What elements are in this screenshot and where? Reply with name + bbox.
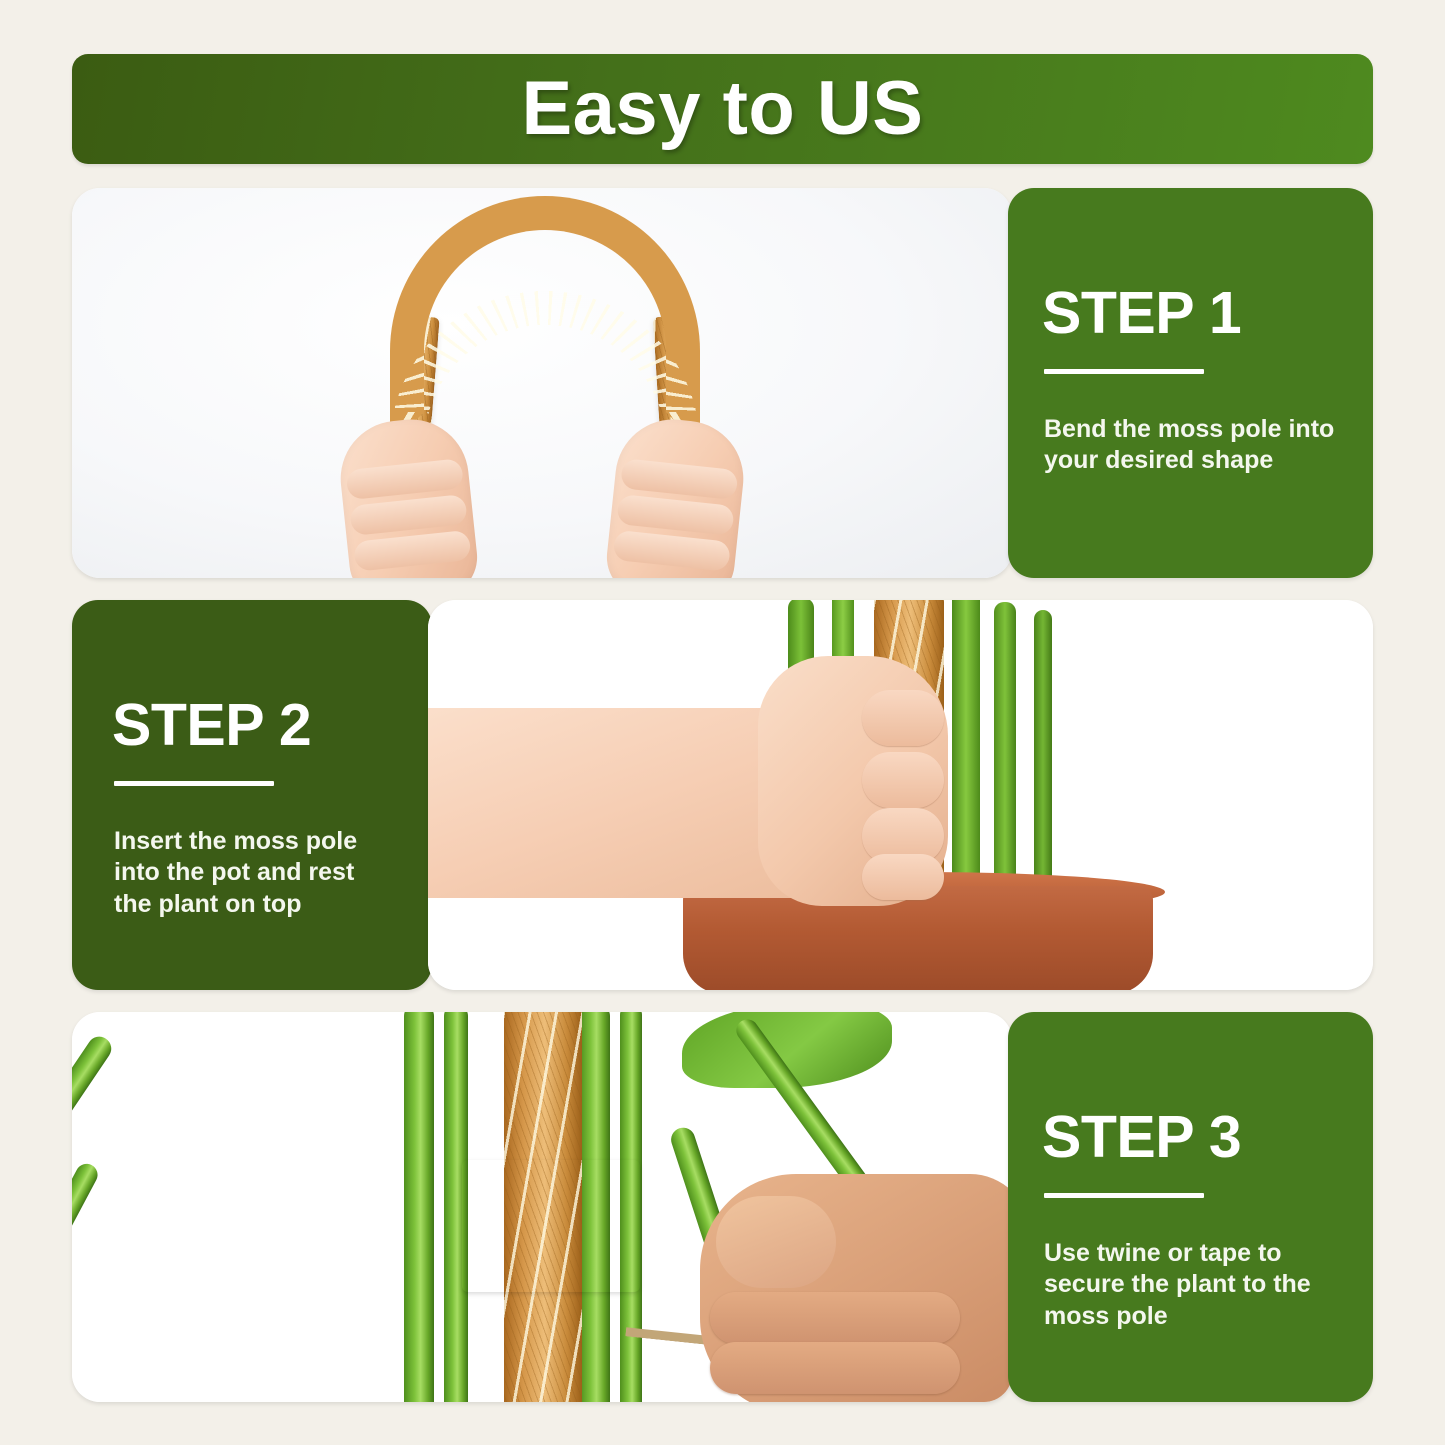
pulling-hand <box>700 1174 1012 1402</box>
thumb <box>716 1196 836 1288</box>
finger-segment <box>612 530 731 572</box>
twine-wrap <box>462 1160 640 1292</box>
finger-segment <box>710 1342 960 1394</box>
infographic-page: Easy to US <box>0 0 1445 1445</box>
plant-stem <box>1034 610 1052 898</box>
step-1-description: Bend the moss pole into your desired sha… <box>1044 414 1339 477</box>
finger-segment <box>620 458 739 500</box>
knuckle <box>862 752 944 808</box>
step-2-title: STEP 2 <box>112 696 398 755</box>
step-1-title: STEP 1 <box>1042 284 1339 343</box>
step-2-photo <box>428 600 1373 990</box>
step-3-photo <box>72 1012 1012 1402</box>
step-1-text-panel: STEP 1 Bend the moss pole into your desi… <box>1008 188 1373 578</box>
step-3-description: Use twine or tape to secure the plant to… <box>1044 1238 1339 1332</box>
step-2-divider <box>114 781 274 786</box>
step-2-text-panel: STEP 2 Insert the moss pole into the pot… <box>72 600 432 990</box>
step-row-2: STEP 2 Insert the moss pole into the pot… <box>72 600 1373 990</box>
gripping-hand <box>758 656 948 906</box>
terracotta-pot <box>683 886 1153 990</box>
finger-segment <box>349 494 468 536</box>
step-2-description: Insert the moss pole into the pot and re… <box>114 826 398 920</box>
header-banner: Easy to US <box>72 54 1373 164</box>
scene-tie-twine <box>72 1012 1012 1402</box>
knuckle <box>862 690 944 746</box>
scene-insert-pole <box>428 600 1373 990</box>
step-3-text-panel: STEP 3 Use twine or tape to secure the p… <box>1008 1012 1373 1402</box>
step-3-title: STEP 3 <box>1042 1108 1339 1167</box>
step-row-1: STEP 1 Bend the moss pole into your desi… <box>72 188 1373 578</box>
scene-bending-pole <box>72 188 1012 578</box>
step-3-divider <box>1044 1193 1204 1198</box>
finger-segment <box>616 494 735 536</box>
finger-segment <box>346 458 465 500</box>
finger-segment <box>353 530 472 572</box>
step-1-divider <box>1044 369 1204 374</box>
plant-stem <box>404 1012 434 1402</box>
step-1-photo <box>72 188 1012 578</box>
finger-segment <box>710 1292 960 1344</box>
page-title: Easy to US <box>521 71 923 147</box>
knuckle <box>862 854 944 900</box>
plant-stem <box>952 600 980 898</box>
plant-stem <box>994 602 1016 898</box>
step-row-3: STEP 3 Use twine or tape to secure the p… <box>72 1012 1373 1402</box>
pole-curve-highlight <box>390 196 700 446</box>
